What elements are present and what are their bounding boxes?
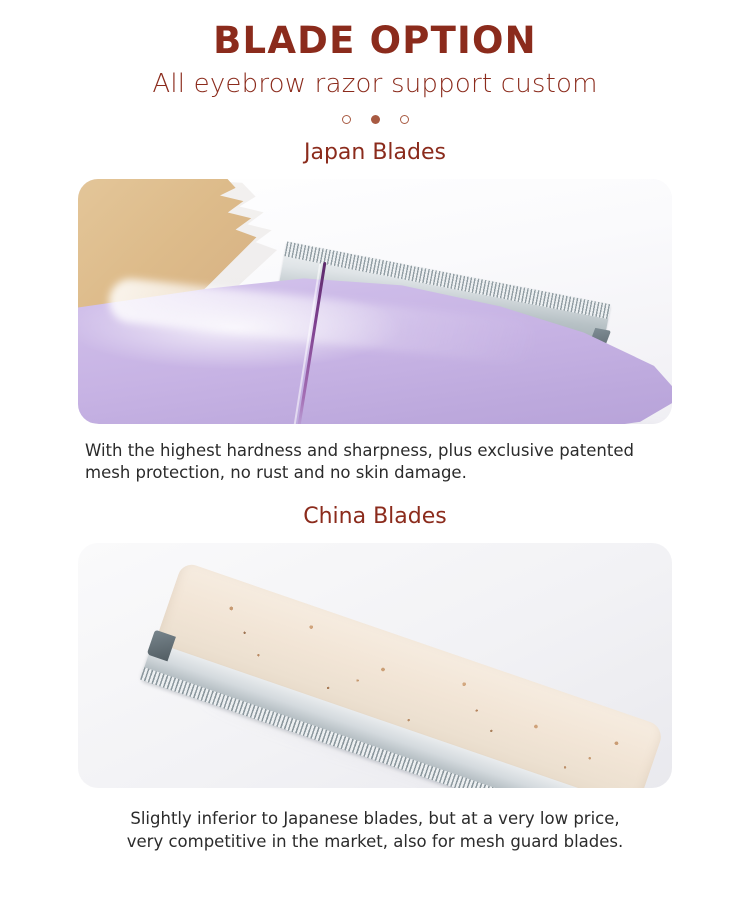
caption-japan-blades: With the highest hardness and sharpness,… bbox=[75, 440, 675, 485]
carousel-dot-indicator bbox=[0, 113, 750, 127]
caption-japan-line-2: mesh protection, no rust and no skin dam… bbox=[85, 462, 675, 484]
section-heading-china-blades: China Blades bbox=[0, 504, 750, 529]
product-image-china-blades bbox=[78, 543, 672, 788]
caption-china-blades: Slightly inferior to Japanese blades, bu… bbox=[75, 808, 675, 853]
caption-china-line-1: Slightly inferior to Japanese blades, bu… bbox=[75, 808, 675, 830]
carousel-dot-3-icon[interactable] bbox=[400, 115, 409, 124]
caption-japan-line-1: With the highest hardness and sharpness,… bbox=[85, 440, 675, 462]
page-subtitle: All eyebrow razor support custom bbox=[0, 69, 750, 99]
page-header: BLADE OPTION All eyebrow razor support c… bbox=[0, 0, 750, 99]
razor-body bbox=[113, 561, 672, 788]
carousel-dot-1-icon[interactable] bbox=[342, 115, 351, 124]
carousel-dot-2-icon[interactable] bbox=[371, 115, 380, 124]
product-image-japan-blades bbox=[78, 179, 672, 424]
product-detail-page: BLADE OPTION All eyebrow razor support c… bbox=[0, 0, 750, 901]
caption-china-line-2: very competitive in the market, also for… bbox=[75, 831, 675, 853]
section-heading-japan-blades: Japan Blades bbox=[0, 140, 750, 165]
page-title: BLADE OPTION bbox=[0, 22, 750, 61]
